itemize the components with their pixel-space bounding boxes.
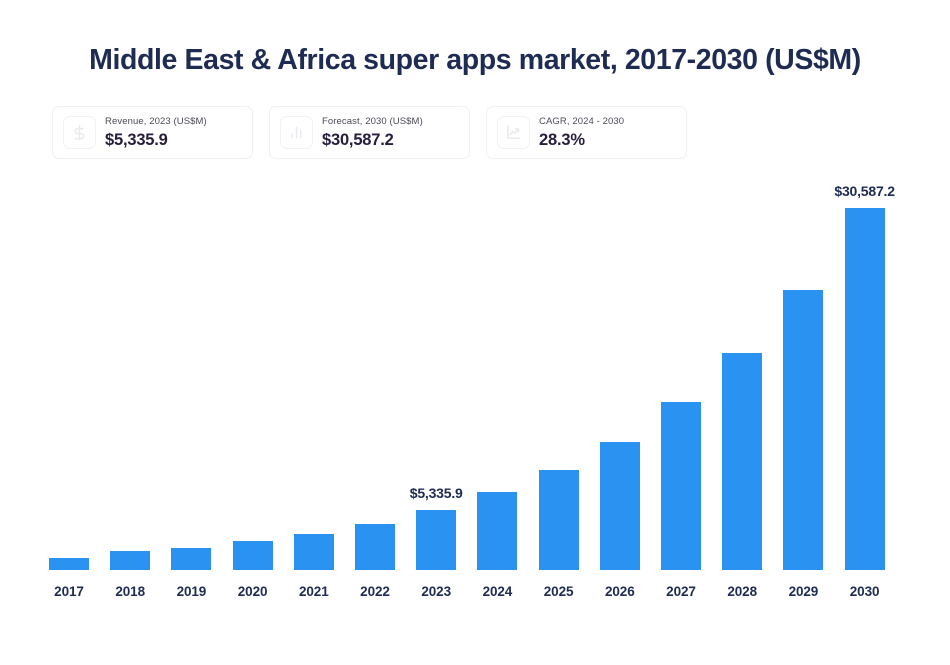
bar-2023[interactable]: $5,335.9 bbox=[416, 510, 456, 570]
bar-rect[interactable] bbox=[49, 558, 89, 570]
bar-2026[interactable] bbox=[600, 442, 640, 570]
bar-2021[interactable] bbox=[294, 534, 334, 570]
bar-2022[interactable] bbox=[355, 524, 395, 570]
bar-2030[interactable]: $30,587.2 bbox=[845, 208, 885, 570]
x-tick-label-2019: 2019 bbox=[171, 584, 211, 599]
bar-rect[interactable] bbox=[477, 492, 517, 570]
x-tick-label-2017: 2017 bbox=[49, 584, 89, 599]
bar-rect[interactable] bbox=[661, 402, 701, 570]
chart-page: Middle East & Africa super apps market, … bbox=[0, 0, 950, 665]
bar-rect[interactable] bbox=[355, 524, 395, 570]
bar-rect[interactable] bbox=[539, 470, 579, 570]
bar-rect[interactable] bbox=[233, 541, 273, 570]
x-tick-label-2025: 2025 bbox=[539, 584, 579, 599]
bar-2025[interactable] bbox=[539, 470, 579, 570]
bar-2028[interactable] bbox=[722, 353, 762, 570]
bar-2019[interactable] bbox=[171, 548, 211, 570]
bar-2017[interactable] bbox=[49, 558, 89, 570]
bar-rect[interactable] bbox=[783, 290, 823, 570]
bar-chart-plot: 201720182019202020212022$5,335.920232024… bbox=[0, 0, 950, 665]
x-tick-label-2024: 2024 bbox=[477, 584, 517, 599]
bar-2024[interactable] bbox=[477, 492, 517, 570]
bar-2020[interactable] bbox=[233, 541, 273, 570]
bar-2018[interactable] bbox=[110, 551, 150, 570]
bar-value-label-2030: $30,587.2 bbox=[834, 183, 894, 199]
bar-2027[interactable] bbox=[661, 402, 701, 570]
bar-rect[interactable] bbox=[110, 551, 150, 570]
bar-2029[interactable] bbox=[783, 290, 823, 570]
x-tick-label-2027: 2027 bbox=[661, 584, 701, 599]
bar-rect[interactable] bbox=[600, 442, 640, 570]
x-tick-label-2023: 2023 bbox=[416, 584, 456, 599]
x-tick-label-2026: 2026 bbox=[600, 584, 640, 599]
x-tick-label-2018: 2018 bbox=[110, 584, 150, 599]
x-tick-label-2021: 2021 bbox=[294, 584, 334, 599]
bar-rect[interactable] bbox=[845, 208, 885, 570]
x-tick-label-2028: 2028 bbox=[722, 584, 762, 599]
x-tick-label-2020: 2020 bbox=[233, 584, 273, 599]
bar-rect[interactable] bbox=[722, 353, 762, 570]
bar-value-label-2023: $5,335.9 bbox=[410, 485, 463, 501]
bar-rect[interactable] bbox=[416, 510, 456, 570]
bar-rect[interactable] bbox=[294, 534, 334, 570]
x-tick-label-2030: 2030 bbox=[845, 584, 885, 599]
x-tick-label-2029: 2029 bbox=[783, 584, 823, 599]
x-tick-label-2022: 2022 bbox=[355, 584, 395, 599]
bar-rect[interactable] bbox=[171, 548, 211, 570]
